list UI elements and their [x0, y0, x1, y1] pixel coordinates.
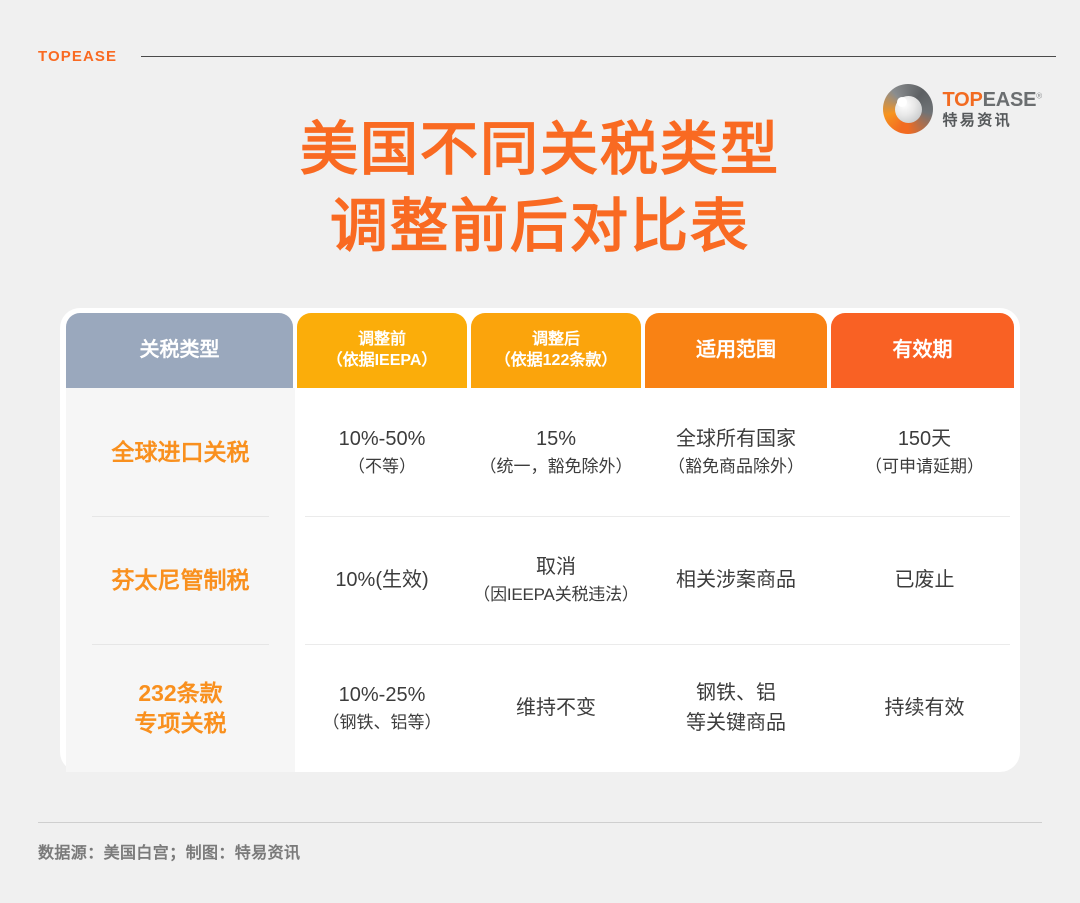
row-2-validity-cell: 已废止	[829, 516, 1020, 644]
row-3-scope-cell: 钢铁、铝 等关键商品	[643, 644, 829, 772]
column-header-before-line1: 调整前	[327, 330, 438, 350]
logo-top-text: TOP	[942, 89, 982, 111]
row-2-after-cell: 取消 （因IEEPA关税违法）	[469, 516, 643, 644]
row-3-scope-sub: 等关键商品	[686, 708, 786, 738]
row-2-type-line1: 芬太尼管制税	[112, 565, 250, 595]
table-row: 232条款 专项关税	[66, 644, 295, 772]
row-2-scope-main: 相关涉案商品	[676, 565, 796, 595]
row-3-validity-main: 持续有效	[885, 693, 965, 723]
title-line-1: 美国不同关税类型	[0, 112, 1080, 189]
row-1-scope-main: 全球所有国家	[668, 424, 804, 454]
column-header-after: 调整后 （依据122条款）	[471, 313, 641, 388]
page-title: 美国不同关税类型 调整前后对比表	[0, 112, 1080, 265]
row-1-validity-cell: 150天 （可申请延期）	[829, 388, 1020, 516]
row-1-scope-cell: 全球所有国家 （豁免商品除外）	[643, 388, 829, 516]
column-header-before: 调整前 （依据IEEPA）	[297, 313, 467, 388]
column-header-validity: 有效期	[831, 313, 1014, 388]
row-3-validity-cell: 持续有效	[829, 644, 1020, 772]
footer-source-text: 数据源：美国白宫；制图：特易资讯	[38, 839, 1042, 863]
row-1-validity-main: 150天	[865, 424, 984, 454]
row-3-type-line1: 232条款	[135, 678, 227, 708]
row-3-before-sub: （钢铁、铝等）	[323, 710, 442, 736]
top-brand-bar: TOPEASE	[38, 42, 1058, 70]
row-1-scope-sub: （豁免商品除外）	[668, 454, 804, 480]
registered-mark-icon: ®	[1036, 91, 1042, 100]
table-row: 全球进口关税	[66, 388, 295, 516]
row-3-type-line2: 专项关税	[135, 708, 227, 738]
row-2-scope-cell: 相关涉案商品	[643, 516, 829, 644]
logo-ease-text: EASE	[983, 89, 1037, 111]
row-1-before-sub: （不等）	[339, 454, 426, 480]
row-1-before-cell: 10%-50% （不等）	[295, 388, 469, 516]
title-line-2: 调整前后对比表	[0, 189, 1080, 266]
row-2-after-sub: （因IEEPA关税违法）	[473, 582, 638, 608]
row-2-before-cell: 10%(生效)	[295, 516, 469, 644]
row-1-type-line1: 全球进口关税	[112, 437, 250, 467]
footer: 数据源：美国白宫；制图：特易资讯	[38, 822, 1042, 863]
column-header-tariff-type: 关税类型	[66, 313, 293, 388]
table-row: 芬太尼管制税	[66, 516, 295, 644]
column-header-after-line2: （依据122条款）	[495, 351, 618, 371]
row-3-scope-main: 钢铁、铝	[686, 678, 786, 708]
table-grid: 关税类型 调整前 （依据IEEPA） 调整后 （依据122条款） 适用范围 有效…	[60, 308, 1020, 772]
row-2-validity-main: 已废止	[895, 565, 955, 595]
column-header-after-line1: 调整后	[495, 330, 618, 350]
row-3-after-cell: 维持不变	[469, 644, 643, 772]
row-2-before-main: 10%(生效)	[335, 565, 428, 595]
row-1-after-cell: 15% （统一，豁免除外）	[469, 388, 643, 516]
brand-wordmark: TOPEASE	[38, 48, 117, 65]
row-1-after-sub: （统一，豁免除外）	[480, 454, 633, 480]
row-1-validity-sub: （可申请延期）	[865, 454, 984, 480]
row-2-after-main: 取消	[473, 552, 638, 582]
row-1-before-main: 10%-50%	[339, 424, 426, 454]
logo-english-name: TOPEASE®	[942, 90, 1042, 111]
column-header-before-line2: （依据IEEPA）	[327, 351, 438, 371]
row-3-before-main: 10%-25%	[323, 680, 442, 710]
row-3-before-cell: 10%-25% （钢铁、铝等）	[295, 644, 469, 772]
row-3-after-main: 维持不变	[516, 693, 596, 723]
comparison-table: 关税类型 调整前 （依据IEEPA） 调整后 （依据122条款） 适用范围 有效…	[60, 308, 1020, 772]
row-1-after-main: 15%	[480, 424, 633, 454]
column-header-scope: 适用范围	[645, 313, 827, 388]
header-divider-line	[141, 56, 1056, 57]
footer-divider-line	[38, 822, 1042, 823]
